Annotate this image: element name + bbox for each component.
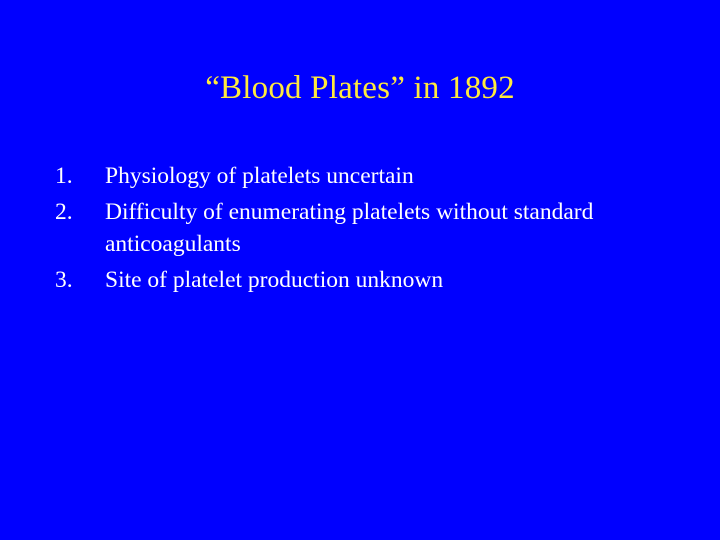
numbered-content-list: 1. Physiology of platelets uncertain 2. … [55, 160, 655, 300]
page-title: “Blood Plates” in 1892 [0, 68, 720, 108]
list-item-label: Physiology of platelets uncertain [105, 160, 595, 192]
list-item-label: Site of platelet production unknown [105, 264, 595, 296]
list-item-number: 1. [55, 160, 89, 192]
list-item-number: 2. [55, 196, 89, 228]
list-item: 3. Site of platelet production unknown [55, 264, 655, 296]
list-item-label: Difficulty of enumerating platelets with… [105, 196, 595, 260]
list-item: 2. Difficulty of enumerating platelets w… [55, 196, 655, 260]
list-item: 1. Physiology of platelets uncertain [55, 160, 655, 192]
list-item-number: 3. [55, 264, 89, 296]
presentation-slide: “Blood Plates” in 1892 1. Physiology of … [0, 0, 720, 540]
